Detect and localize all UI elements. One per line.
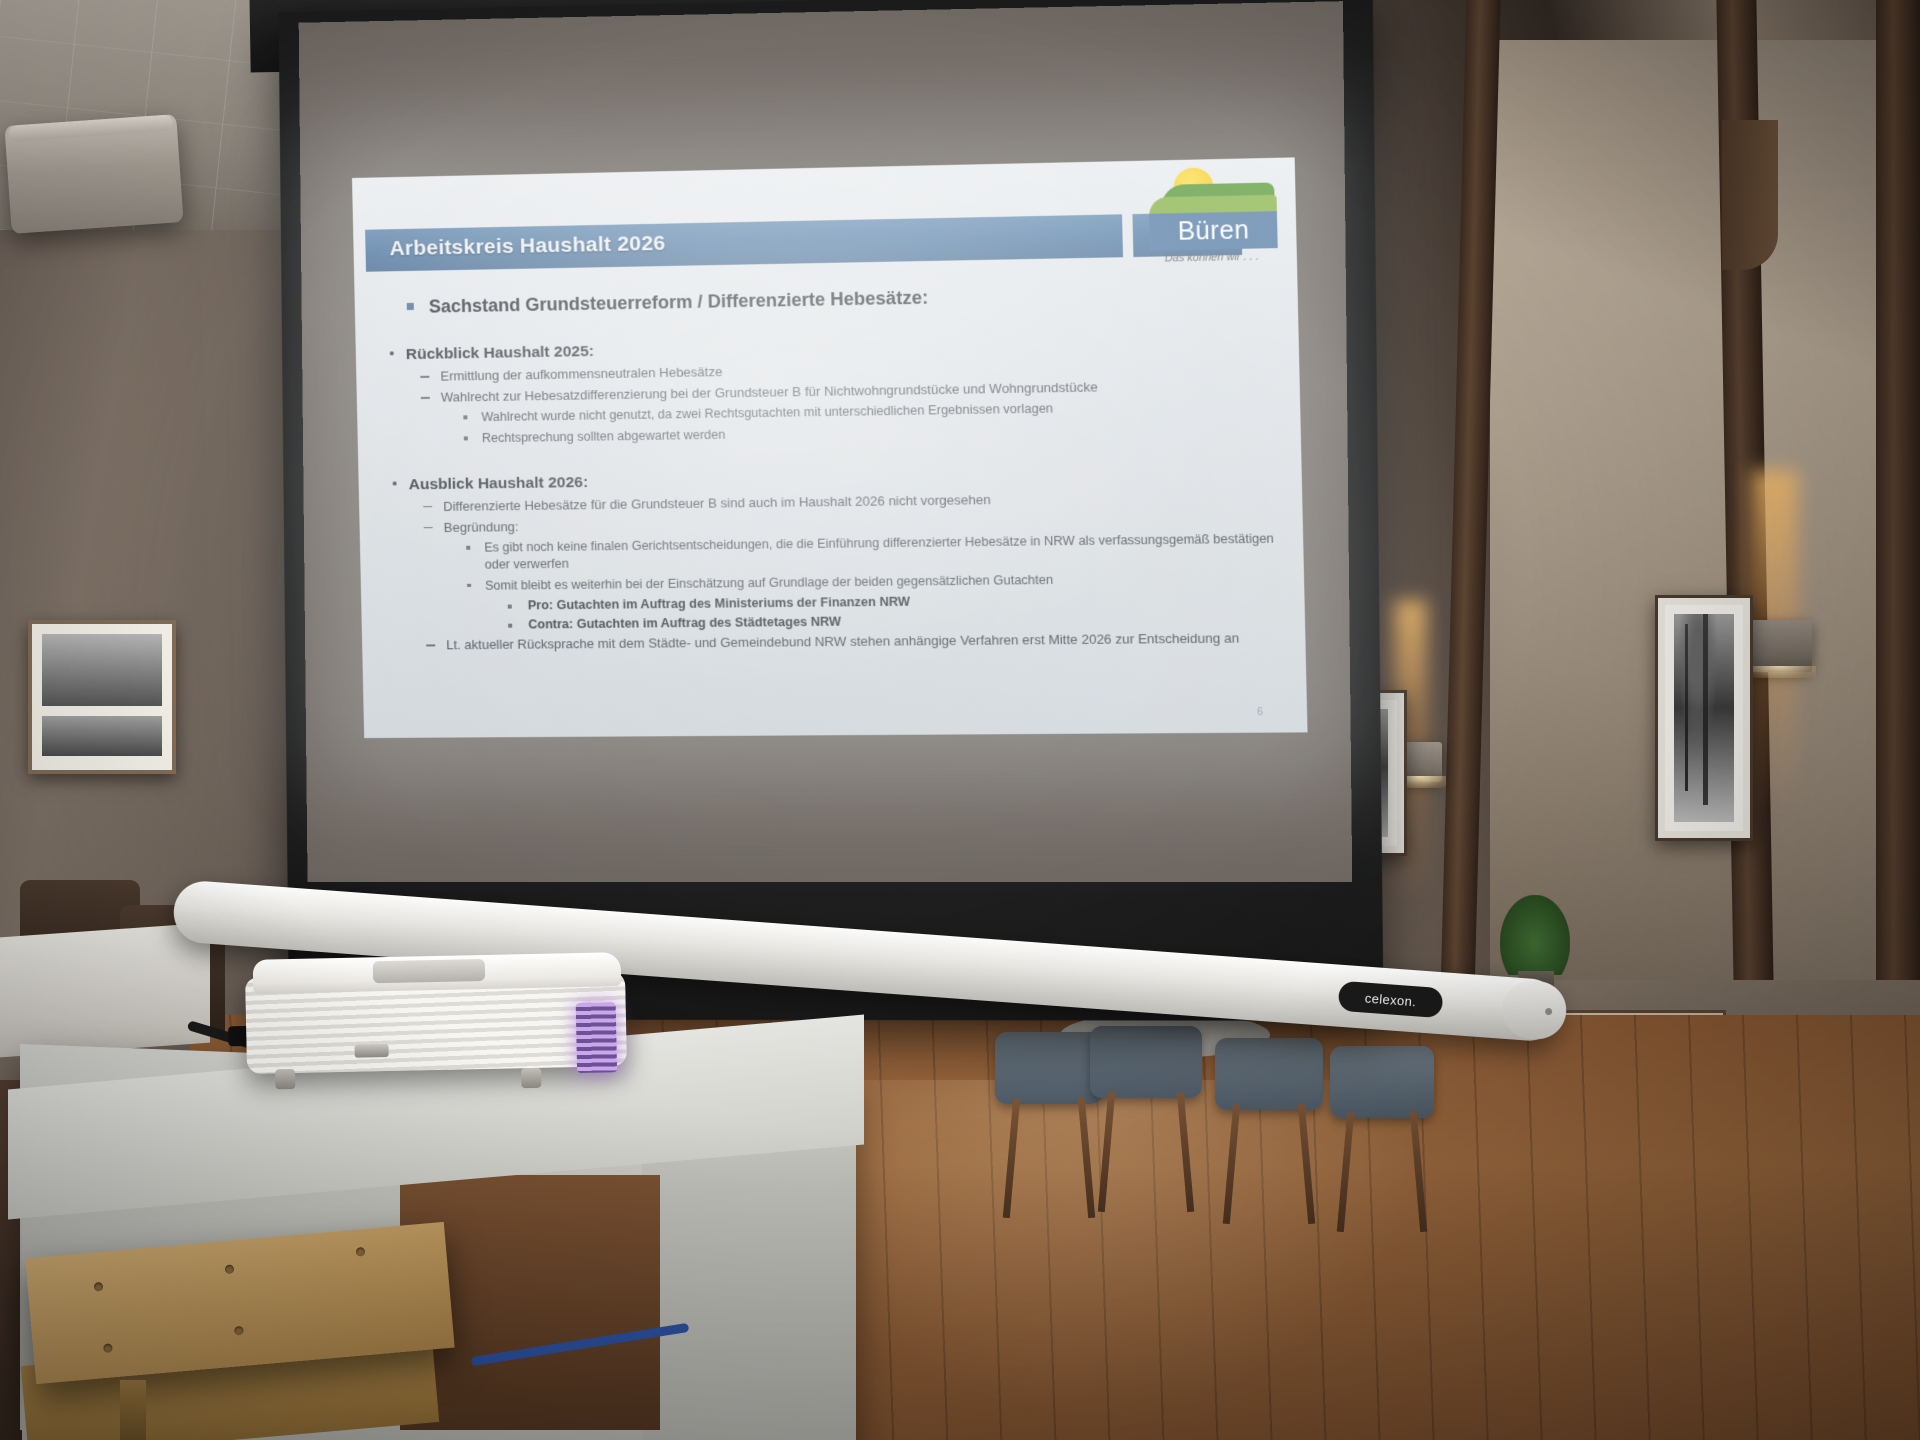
right-wall-panel xyxy=(1490,40,1920,1040)
dash-bullet-icon xyxy=(426,645,435,647)
chair-back xyxy=(995,1032,1103,1104)
wall-beam xyxy=(1876,0,1920,1120)
dash-bullet-icon xyxy=(423,506,432,508)
chair-leg xyxy=(1298,1104,1315,1224)
screw-icon xyxy=(1545,1008,1552,1015)
projector-vent-glow xyxy=(576,1002,617,1073)
slide-page-number: 6 xyxy=(1257,707,1263,718)
bench-hole xyxy=(225,1264,235,1274)
bench-hole xyxy=(234,1326,244,1336)
chair-leg xyxy=(1337,1112,1354,1232)
dash-bullet-icon xyxy=(424,527,433,529)
dot-bullet-icon xyxy=(466,546,470,550)
dot-bullet-icon xyxy=(508,624,512,628)
framed-photograph-left xyxy=(28,620,176,774)
chair-back xyxy=(1090,1026,1202,1098)
section-heading-text: Rückblick Haushalt 2025: xyxy=(406,343,595,363)
bullet-item-pro: Pro: Gutachten im Auftrag des Ministeriu… xyxy=(528,591,1305,613)
bench-leg xyxy=(120,1380,146,1440)
projector-foot xyxy=(521,1068,541,1088)
picture-image xyxy=(42,634,162,706)
bullet-text: Contra: Gutachten im Auftrag des Städtet… xyxy=(528,615,841,632)
dash-bullet-icon xyxy=(421,397,430,399)
projector-lens xyxy=(373,959,485,983)
projector-switch[interactable] xyxy=(354,1044,388,1058)
slide-body: Sachstand Grundsteuerreform / Differenzi… xyxy=(354,264,1307,722)
chair-back xyxy=(1330,1046,1434,1118)
bullet-item: Es gibt noch keine finalen Gerichtsentsc… xyxy=(484,530,1304,573)
slide-canvas: Arbeitskreis Haushalt 2026 Büren Das kön… xyxy=(352,157,1308,738)
bench-hole xyxy=(103,1343,113,1353)
dot-bullet-icon xyxy=(467,583,471,587)
dot-bullet-icon xyxy=(463,416,467,420)
projector-foot xyxy=(275,1069,295,1089)
chair xyxy=(1330,1046,1434,1236)
bullet-item-contra: Contra: Gutachten im Auftrag des Städtet… xyxy=(528,611,1305,632)
chair-leg xyxy=(1223,1104,1240,1224)
background-table xyxy=(0,923,210,1058)
chair-leg xyxy=(1176,1092,1193,1212)
chair xyxy=(1215,1038,1323,1230)
dot-bullet-icon xyxy=(393,481,397,485)
logo-name: Büren xyxy=(1149,211,1278,250)
chair xyxy=(995,1032,1103,1222)
bullet-text: Rechtsprechung sollten abgewartet werden xyxy=(482,428,726,446)
chair-back xyxy=(1215,1038,1323,1110)
bench-hole xyxy=(356,1247,366,1257)
potted-plant xyxy=(1500,895,1570,975)
bullet-text: Lt. aktueller Rücksprache mit dem Städte… xyxy=(446,631,1239,653)
room-photo-scene: Arbeitskreis Haushalt 2026 Büren Das kön… xyxy=(0,0,1920,1440)
chair-leg xyxy=(1409,1112,1426,1232)
bullet-text: Es gibt noch keine finalen Gerichtsentsc… xyxy=(484,532,1274,572)
bullet-text: Wahlrecht wurde nicht genutzt, da zwei R… xyxy=(481,402,1053,425)
dot-bullet-icon xyxy=(390,351,394,355)
logo-tagline: Das können wir . . . xyxy=(1165,250,1302,265)
chair xyxy=(1090,1026,1202,1222)
bullet-item: Somit bleibt es weiterhin bei der Einsch… xyxy=(485,569,1304,594)
section-heading-text: Ausblick Haushalt 2026: xyxy=(408,474,588,493)
dot-bullet-icon xyxy=(464,436,468,440)
dash-bullet-icon xyxy=(420,376,429,378)
beam-corbel xyxy=(1722,120,1778,270)
bullet-text: Begründung: xyxy=(444,519,519,535)
bench-hole xyxy=(94,1282,104,1292)
dot-bullet-icon xyxy=(508,605,512,609)
bullet-item: Lt. aktueller Rücksprache mit dem Städte… xyxy=(446,629,1306,654)
chair-leg xyxy=(1098,1092,1115,1212)
picture-image xyxy=(1674,614,1734,822)
picture-image xyxy=(42,716,162,756)
square-bullet-icon xyxy=(407,303,414,310)
celexon-brand-text: celexon. xyxy=(1364,990,1417,1009)
wall-sconce xyxy=(1748,620,1812,672)
bullet-text: Ermittlung der aufkommensneutralen Hebes… xyxy=(440,364,722,384)
bullet-text: Differenzierte Hebesätze für die Grundst… xyxy=(443,492,991,514)
projector xyxy=(245,952,628,1090)
buren-logo: Büren Das können wir . . . xyxy=(1138,164,1287,257)
celexon-brand-badge: celexon. xyxy=(1338,981,1444,1019)
projected-slide: Arbeitskreis Haushalt 2026 Büren Das kön… xyxy=(352,157,1308,738)
framed-photograph xyxy=(1655,595,1753,841)
ceiling-lamp xyxy=(4,114,183,234)
chair-leg xyxy=(1003,1098,1020,1218)
bullet-text: Pro: Gutachten im Auftrag des Ministeriu… xyxy=(528,595,910,613)
bullet-text: Somit bleibt es weiterhin bei der Einsch… xyxy=(485,572,1053,592)
